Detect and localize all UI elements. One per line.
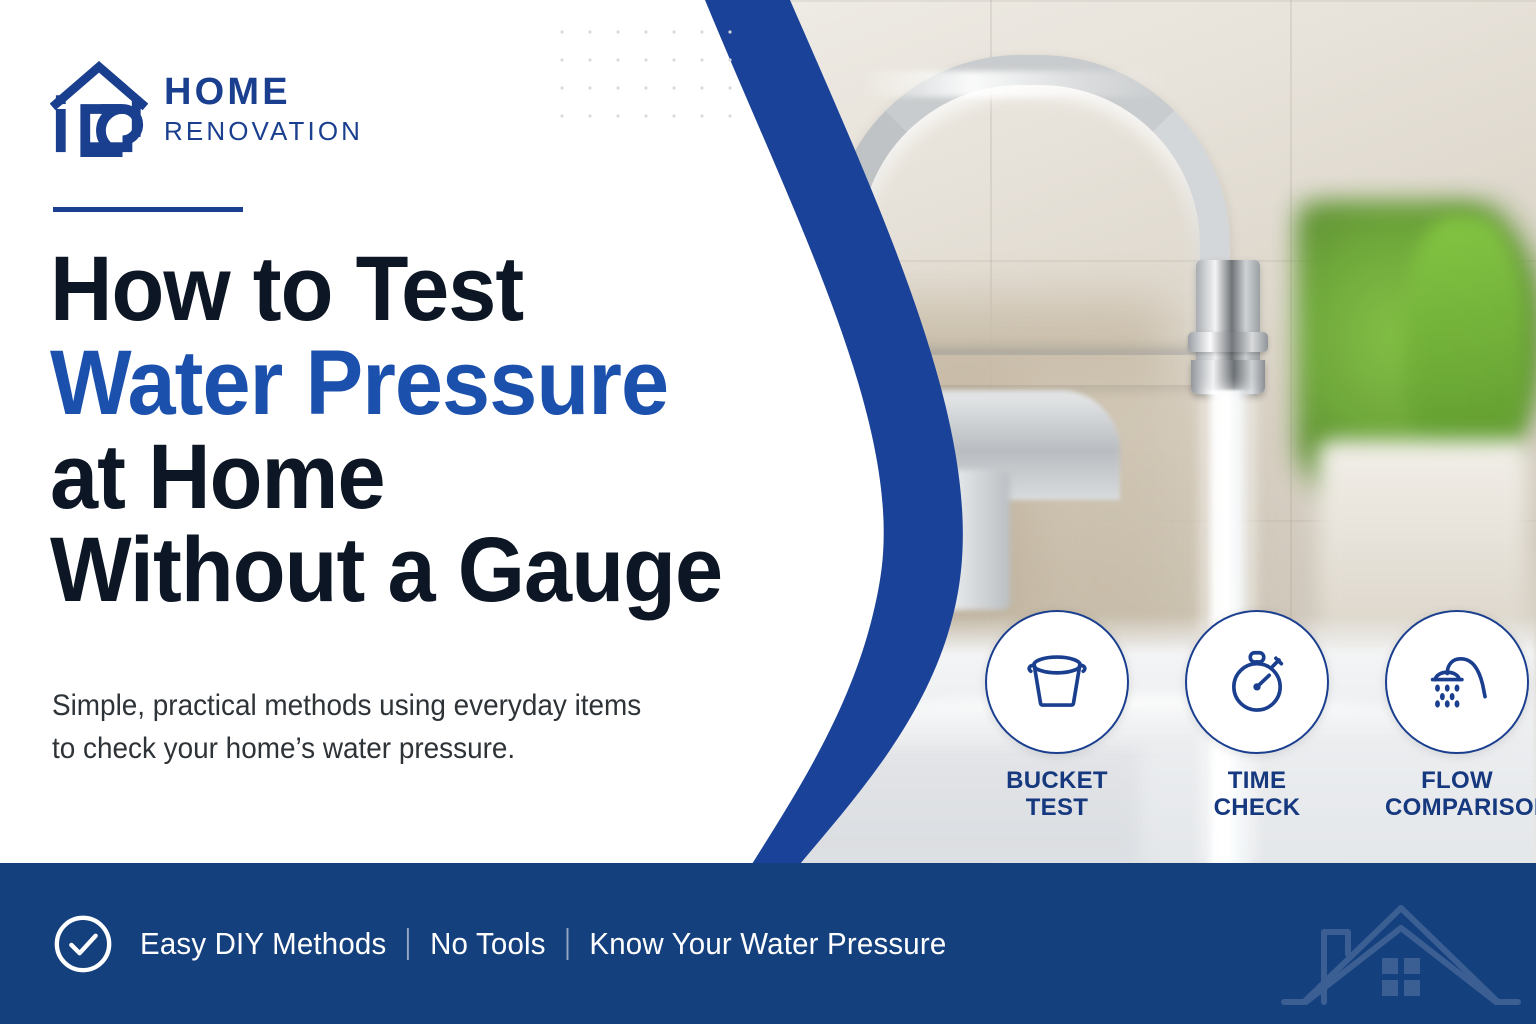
headline-line-1: How to Test [50, 243, 783, 337]
feature-label-line1: FLOW [1385, 768, 1529, 795]
footer-content: Easy DIY Methods No Tools Know Your Wate… [52, 863, 989, 1024]
showerhead-icon [1418, 643, 1496, 721]
page-subtitle: Simple, practical methods using everyday… [52, 685, 740, 770]
check-circle-icon [52, 913, 114, 975]
subtitle-line-2: to check your home’s water pressure. [52, 728, 740, 771]
accent-rule [53, 207, 243, 212]
feature-time-check[interactable]: TIME CHECK [1185, 610, 1329, 822]
feature-flow-comparison[interactable]: FLOW COMPARISON [1385, 610, 1529, 822]
feature-label: TIME CHECK [1185, 768, 1329, 822]
bucket-icon [1018, 643, 1096, 721]
page-title: How to Test Water Pressure at Home Witho… [50, 243, 783, 618]
left-content-panel: HOME RENOVATION How to Test Water Pressu… [0, 0, 740, 864]
house-ic-monogram-icon [50, 58, 148, 158]
feature-label-line2: TEST [985, 795, 1129, 822]
feature-icon-circle [1185, 610, 1329, 754]
brand-name-line2: RENOVATION [164, 118, 363, 144]
brand-name-line1: HOME [164, 73, 363, 111]
feature-label: BUCKET TEST [985, 768, 1129, 822]
feature-label-line2: CHECK [1185, 795, 1329, 822]
brand-wordmark: HOME RENOVATION [164, 73, 363, 144]
headline-line-4: Without a Gauge [50, 524, 783, 618]
house-outline-icon [1276, 870, 1526, 1024]
feature-badges: BUCKET TEST TIME [985, 610, 1529, 822]
subtitle-line-1: Simple, practical methods using everyday… [52, 685, 740, 728]
brand-logo[interactable]: HOME RENOVATION [50, 58, 363, 158]
feature-label: FLOW COMPARISON [1385, 768, 1529, 822]
footer-separator [567, 928, 569, 960]
poster-canvas: HOME RENOVATION How to Test Water Pressu… [0, 0, 1536, 1024]
footer-bar: Easy DIY Methods No Tools Know Your Wate… [0, 863, 1536, 1024]
footer-separator [407, 928, 409, 960]
feature-label-line1: TIME [1185, 768, 1329, 795]
feature-label-line2: COMPARISON [1385, 795, 1529, 822]
footer-item-list: Easy DIY Methods No Tools Know Your Wate… [140, 926, 946, 962]
headline-line-3: at Home [50, 431, 783, 525]
feature-bucket-test[interactable]: BUCKET TEST [985, 610, 1129, 822]
footer-item-1: Easy DIY Methods [140, 926, 386, 962]
stopwatch-icon [1218, 643, 1296, 721]
feature-label-line1: BUCKET [985, 768, 1129, 795]
headline-line-2: Water Pressure [50, 337, 783, 431]
feature-icon-circle [1385, 610, 1529, 754]
dot-grid-decoration [548, 18, 738, 136]
footer-item-3: Know Your Water Pressure [589, 926, 946, 962]
footer-item-2: No Tools [430, 926, 546, 962]
feature-icon-circle [985, 610, 1129, 754]
